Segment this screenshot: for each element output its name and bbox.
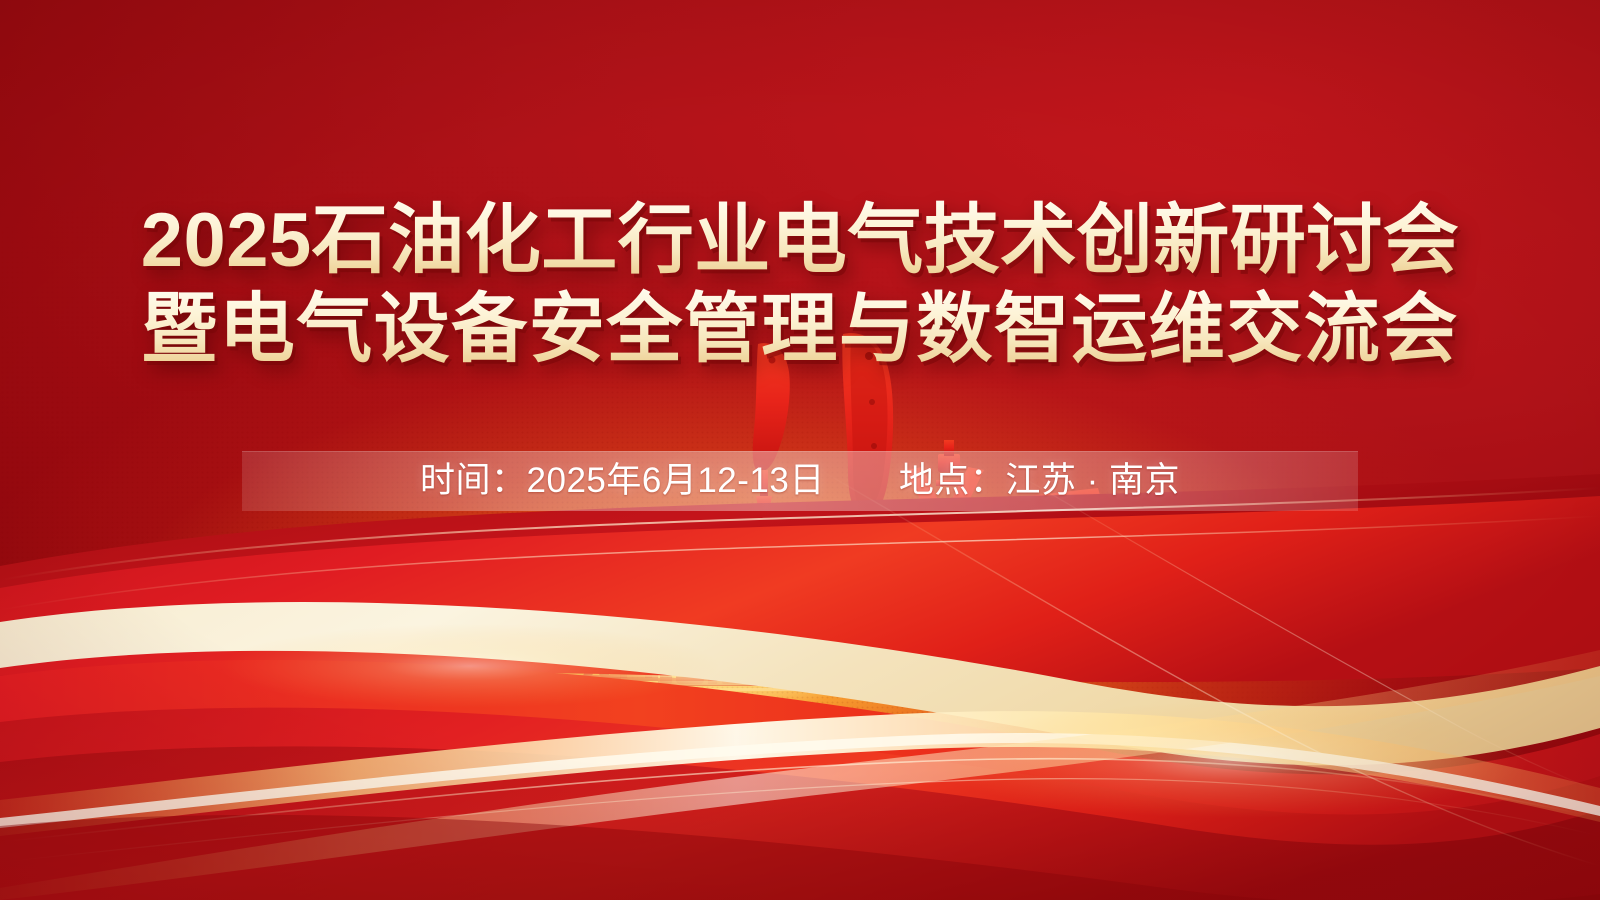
conference-banner: 2025石油化工行业电气技术创新研讨会 暨电气设备安全管理与数智运维交流会 时间… [0,0,1600,900]
flare-right [930,702,1530,818]
event-date: 时间：2025年6月12-13日 [420,463,825,498]
event-info-row: 时间：2025年6月12-13日 地点：江苏 · 南京 [242,445,1358,515]
title-line-2: 暨电气设备安全管理与数智运维交流会 [0,285,1600,374]
title-line-1: 2025石油化工行业电气技术创新研讨会 [0,196,1600,285]
flare-left [220,624,720,708]
ribbon-waves-illustration [0,470,1600,900]
event-location: 地点：江苏 · 南京 [899,463,1180,498]
banner-title: 2025石油化工行业电气技术创新研讨会 暨电气设备安全管理与数智运维交流会 [0,196,1600,374]
